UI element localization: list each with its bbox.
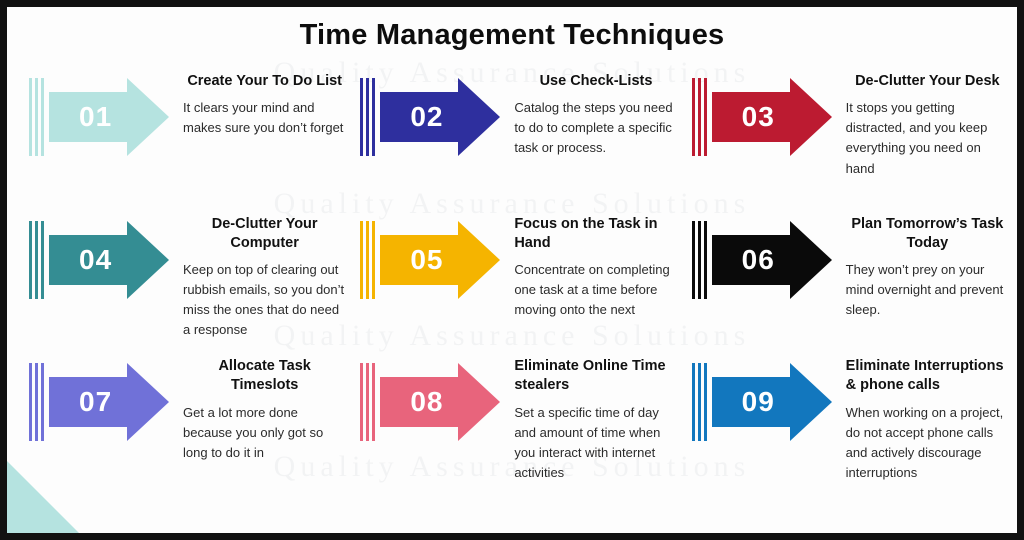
- arrow-tail-bars-01: [29, 78, 46, 156]
- tail-bar: [360, 221, 363, 299]
- step-desc-07: Get a lot more done because you only got…: [183, 403, 346, 463]
- arrow-shape-03: 03: [712, 78, 832, 156]
- tail-bar: [29, 363, 32, 441]
- tail-bar: [372, 78, 375, 156]
- arrow-shape-08: 08: [380, 363, 500, 441]
- step-text-03: De-Clutter Your Desk It stops you gettin…: [832, 68, 1009, 179]
- step-number-05: 05: [410, 244, 443, 276]
- step-title-06: Plan Tomorrow’s Task Today: [846, 215, 1009, 253]
- step-title-07: Allocate Task Timeslots: [183, 357, 346, 395]
- tail-bar: [29, 78, 32, 156]
- step-number-07: 07: [79, 386, 112, 418]
- tail-bar: [366, 78, 369, 156]
- page-title: Time Management Techniques: [7, 7, 1017, 52]
- arrow-tail-bars-06: [692, 221, 709, 299]
- step-card-04: 04 De-Clutter Your Computer Keep on top …: [15, 211, 346, 354]
- step-card-06: 06 Plan Tomorrow’s Task Today They won’t…: [678, 211, 1009, 354]
- tail-bar: [698, 363, 701, 441]
- step-text-04: De-Clutter Your Computer Keep on top of …: [169, 211, 346, 341]
- step-text-08: Eliminate Online Time stealers Set a spe…: [500, 353, 677, 483]
- step-number-04: 04: [79, 244, 112, 276]
- tail-bar: [366, 363, 369, 441]
- step-text-01: Create Your To Do List It clears your mi…: [169, 68, 346, 138]
- step-title-08: Eliminate Online Time stealers: [514, 357, 677, 395]
- arrow-tail-bars-08: [360, 363, 377, 441]
- tail-bar: [29, 221, 32, 299]
- arrow-tail-bars-05: [360, 221, 377, 299]
- step-desc-06: They won’t prey on your mind overnight a…: [846, 260, 1009, 320]
- step-card-05: 05 Focus on the Task in Hand Concentrate…: [346, 211, 677, 354]
- step-desc-03: It stops you getting distracted, and you…: [846, 98, 1009, 179]
- tail-bar: [372, 221, 375, 299]
- step-number-01: 01: [79, 101, 112, 133]
- step-desc-04: Keep on top of clearing out rubbish emai…: [183, 260, 346, 341]
- tail-bar: [35, 363, 38, 441]
- arrow-graphic-08: 08: [360, 363, 500, 441]
- arrow-graphic-07: 07: [29, 363, 169, 441]
- arrow-graphic-04: 04: [29, 221, 169, 299]
- step-text-07: Allocate Task Timeslots Get a lot more d…: [169, 353, 346, 463]
- tail-bar: [41, 78, 44, 156]
- step-title-05: Focus on the Task in Hand: [514, 215, 677, 253]
- tail-bar: [692, 363, 695, 441]
- arrow-shape-06: 06: [712, 221, 832, 299]
- arrow-head: [790, 221, 832, 299]
- arrow-tail-bars-07: [29, 363, 46, 441]
- tail-bar: [698, 221, 701, 299]
- step-number-06: 06: [742, 244, 775, 276]
- step-title-01: Create Your To Do List: [183, 72, 346, 91]
- tail-bar: [41, 221, 44, 299]
- arrow-shape-04: 04: [49, 221, 169, 299]
- arrow-graphic-09: 09: [692, 363, 832, 441]
- step-desc-08: Set a specific time of day and amount of…: [514, 403, 677, 484]
- step-title-04: De-Clutter Your Computer: [183, 215, 346, 253]
- arrow-shape-01: 01: [49, 78, 169, 156]
- arrow-head: [790, 78, 832, 156]
- tail-bar: [704, 78, 707, 156]
- tail-bar: [704, 363, 707, 441]
- step-card-08: 08 Eliminate Online Time stealers Set a …: [346, 353, 677, 496]
- step-title-02: Use Check-Lists: [514, 72, 677, 91]
- step-desc-05: Concentrate on completing one task at a …: [514, 260, 677, 320]
- tail-bar: [704, 221, 707, 299]
- arrow-head: [458, 221, 500, 299]
- step-card-02: 02 Use Check-Lists Catalog the steps you…: [346, 68, 677, 211]
- step-title-09: Eliminate Interruptions & phone calls: [846, 357, 1009, 395]
- arrow-shape-02: 02: [380, 78, 500, 156]
- step-card-01: 01 Create Your To Do List It clears your…: [15, 68, 346, 211]
- tail-bar: [360, 363, 363, 441]
- arrow-graphic-02: 02: [360, 78, 500, 156]
- tail-bar: [360, 78, 363, 156]
- arrow-head: [127, 221, 169, 299]
- arrow-tail-bars-03: [692, 78, 709, 156]
- arrow-head: [127, 363, 169, 441]
- tail-bar: [698, 78, 701, 156]
- step-text-06: Plan Tomorrow’s Task Today They won’t pr…: [832, 211, 1009, 321]
- step-number-02: 02: [410, 101, 443, 133]
- step-number-09: 09: [742, 386, 775, 418]
- step-number-03: 03: [742, 101, 775, 133]
- step-title-03: De-Clutter Your Desk: [846, 72, 1009, 91]
- step-desc-09: When working on a project, do not accept…: [846, 403, 1009, 484]
- arrow-tail-bars-04: [29, 221, 46, 299]
- arrow-shape-07: 07: [49, 363, 169, 441]
- tail-bar: [372, 363, 375, 441]
- steps-grid: 01 Create Your To Do List It clears your…: [7, 52, 1017, 504]
- step-card-09: 09 Eliminate Interruptions & phone calls…: [678, 353, 1009, 496]
- step-card-03: 03 De-Clutter Your Desk It stops you get…: [678, 68, 1009, 211]
- arrow-graphic-03: 03: [692, 78, 832, 156]
- arrow-head: [458, 78, 500, 156]
- arrow-shape-09: 09: [712, 363, 832, 441]
- step-card-07: 07 Allocate Task Timeslots Get a lot mor…: [15, 353, 346, 496]
- step-text-02: Use Check-Lists Catalog the steps you ne…: [500, 68, 677, 159]
- arrow-shape-05: 05: [380, 221, 500, 299]
- arrow-graphic-01: 01: [29, 78, 169, 156]
- infographic-canvas: Quality Assurance Solutions Quality Assu…: [0, 0, 1024, 540]
- tail-bar: [692, 221, 695, 299]
- arrow-tail-bars-02: [360, 78, 377, 156]
- arrow-graphic-05: 05: [360, 221, 500, 299]
- step-text-09: Eliminate Interruptions & phone calls Wh…: [832, 353, 1009, 483]
- arrow-tail-bars-09: [692, 363, 709, 441]
- step-text-05: Focus on the Task in Hand Concentrate on…: [500, 211, 677, 321]
- step-number-08: 08: [410, 386, 443, 418]
- arrow-head: [458, 363, 500, 441]
- tail-bar: [35, 78, 38, 156]
- step-desc-02: Catalog the steps you need to do to comp…: [514, 98, 677, 158]
- tail-bar: [35, 221, 38, 299]
- tail-bar: [41, 363, 44, 441]
- arrow-head: [790, 363, 832, 441]
- step-desc-01: It clears your mind and makes sure you d…: [183, 98, 346, 138]
- arrow-graphic-06: 06: [692, 221, 832, 299]
- tail-bar: [366, 221, 369, 299]
- tail-bar: [692, 78, 695, 156]
- arrow-head: [127, 78, 169, 156]
